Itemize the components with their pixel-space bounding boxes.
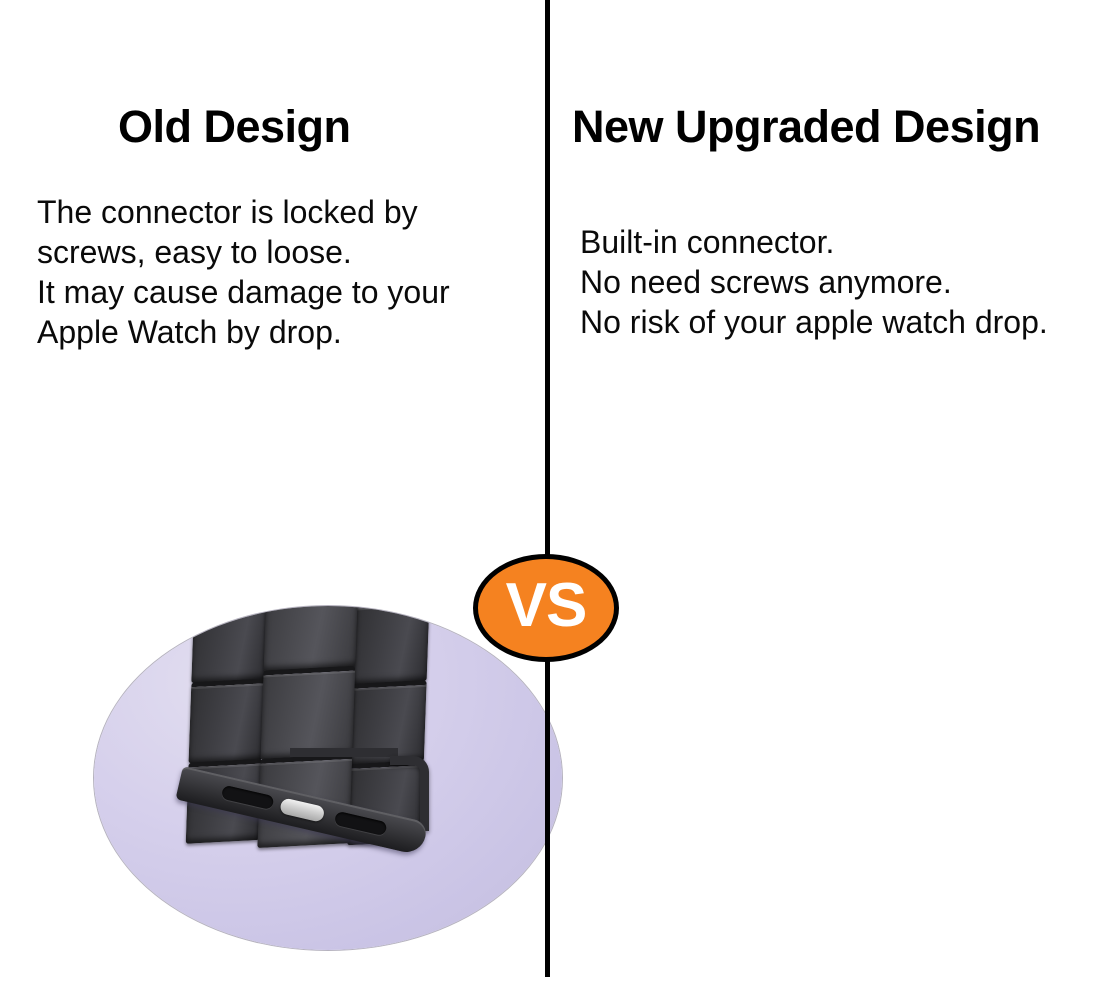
description-line: No risk of your apple watch drop. xyxy=(580,302,1048,342)
comparison-root: Old Design The connector is locked by sc… xyxy=(0,0,1100,1003)
page-title-old-design: Old Design xyxy=(118,104,351,149)
vertical-divider xyxy=(545,0,550,977)
panel-old-design: Old Design The connector is locked by sc… xyxy=(0,0,545,1003)
vs-label: VS xyxy=(506,575,587,637)
description-line: screws, easy to loose. xyxy=(37,232,450,272)
description-line: The connector is locked by xyxy=(37,192,450,232)
connector-slot xyxy=(334,811,388,836)
band-link xyxy=(189,678,266,763)
description-line: Built-in connector. xyxy=(580,222,1048,262)
description-line: It may cause damage to your xyxy=(37,272,450,312)
vs-badge: VS xyxy=(473,554,619,662)
connector-slot xyxy=(221,785,275,810)
panel-new-design: New Upgraded Design Built-in connector. … xyxy=(550,0,1100,1003)
photo-stage xyxy=(94,606,562,950)
connector-rod-arm xyxy=(290,748,398,757)
band-link xyxy=(260,666,355,760)
description-new-design: Built-in connector. No need screws anymo… xyxy=(580,222,1048,342)
description-old-design: The connector is locked by screws, easy … xyxy=(37,192,450,352)
screw-head xyxy=(279,797,325,822)
page-title-new-design: New Upgraded Design xyxy=(572,104,1040,149)
band-link xyxy=(264,606,359,671)
product-photo-old-design xyxy=(94,606,562,950)
description-line: Apple Watch by drop. xyxy=(37,312,450,352)
description-line: No need screws anymore. xyxy=(580,262,1048,302)
band-link xyxy=(191,606,268,683)
band-link xyxy=(353,606,430,685)
